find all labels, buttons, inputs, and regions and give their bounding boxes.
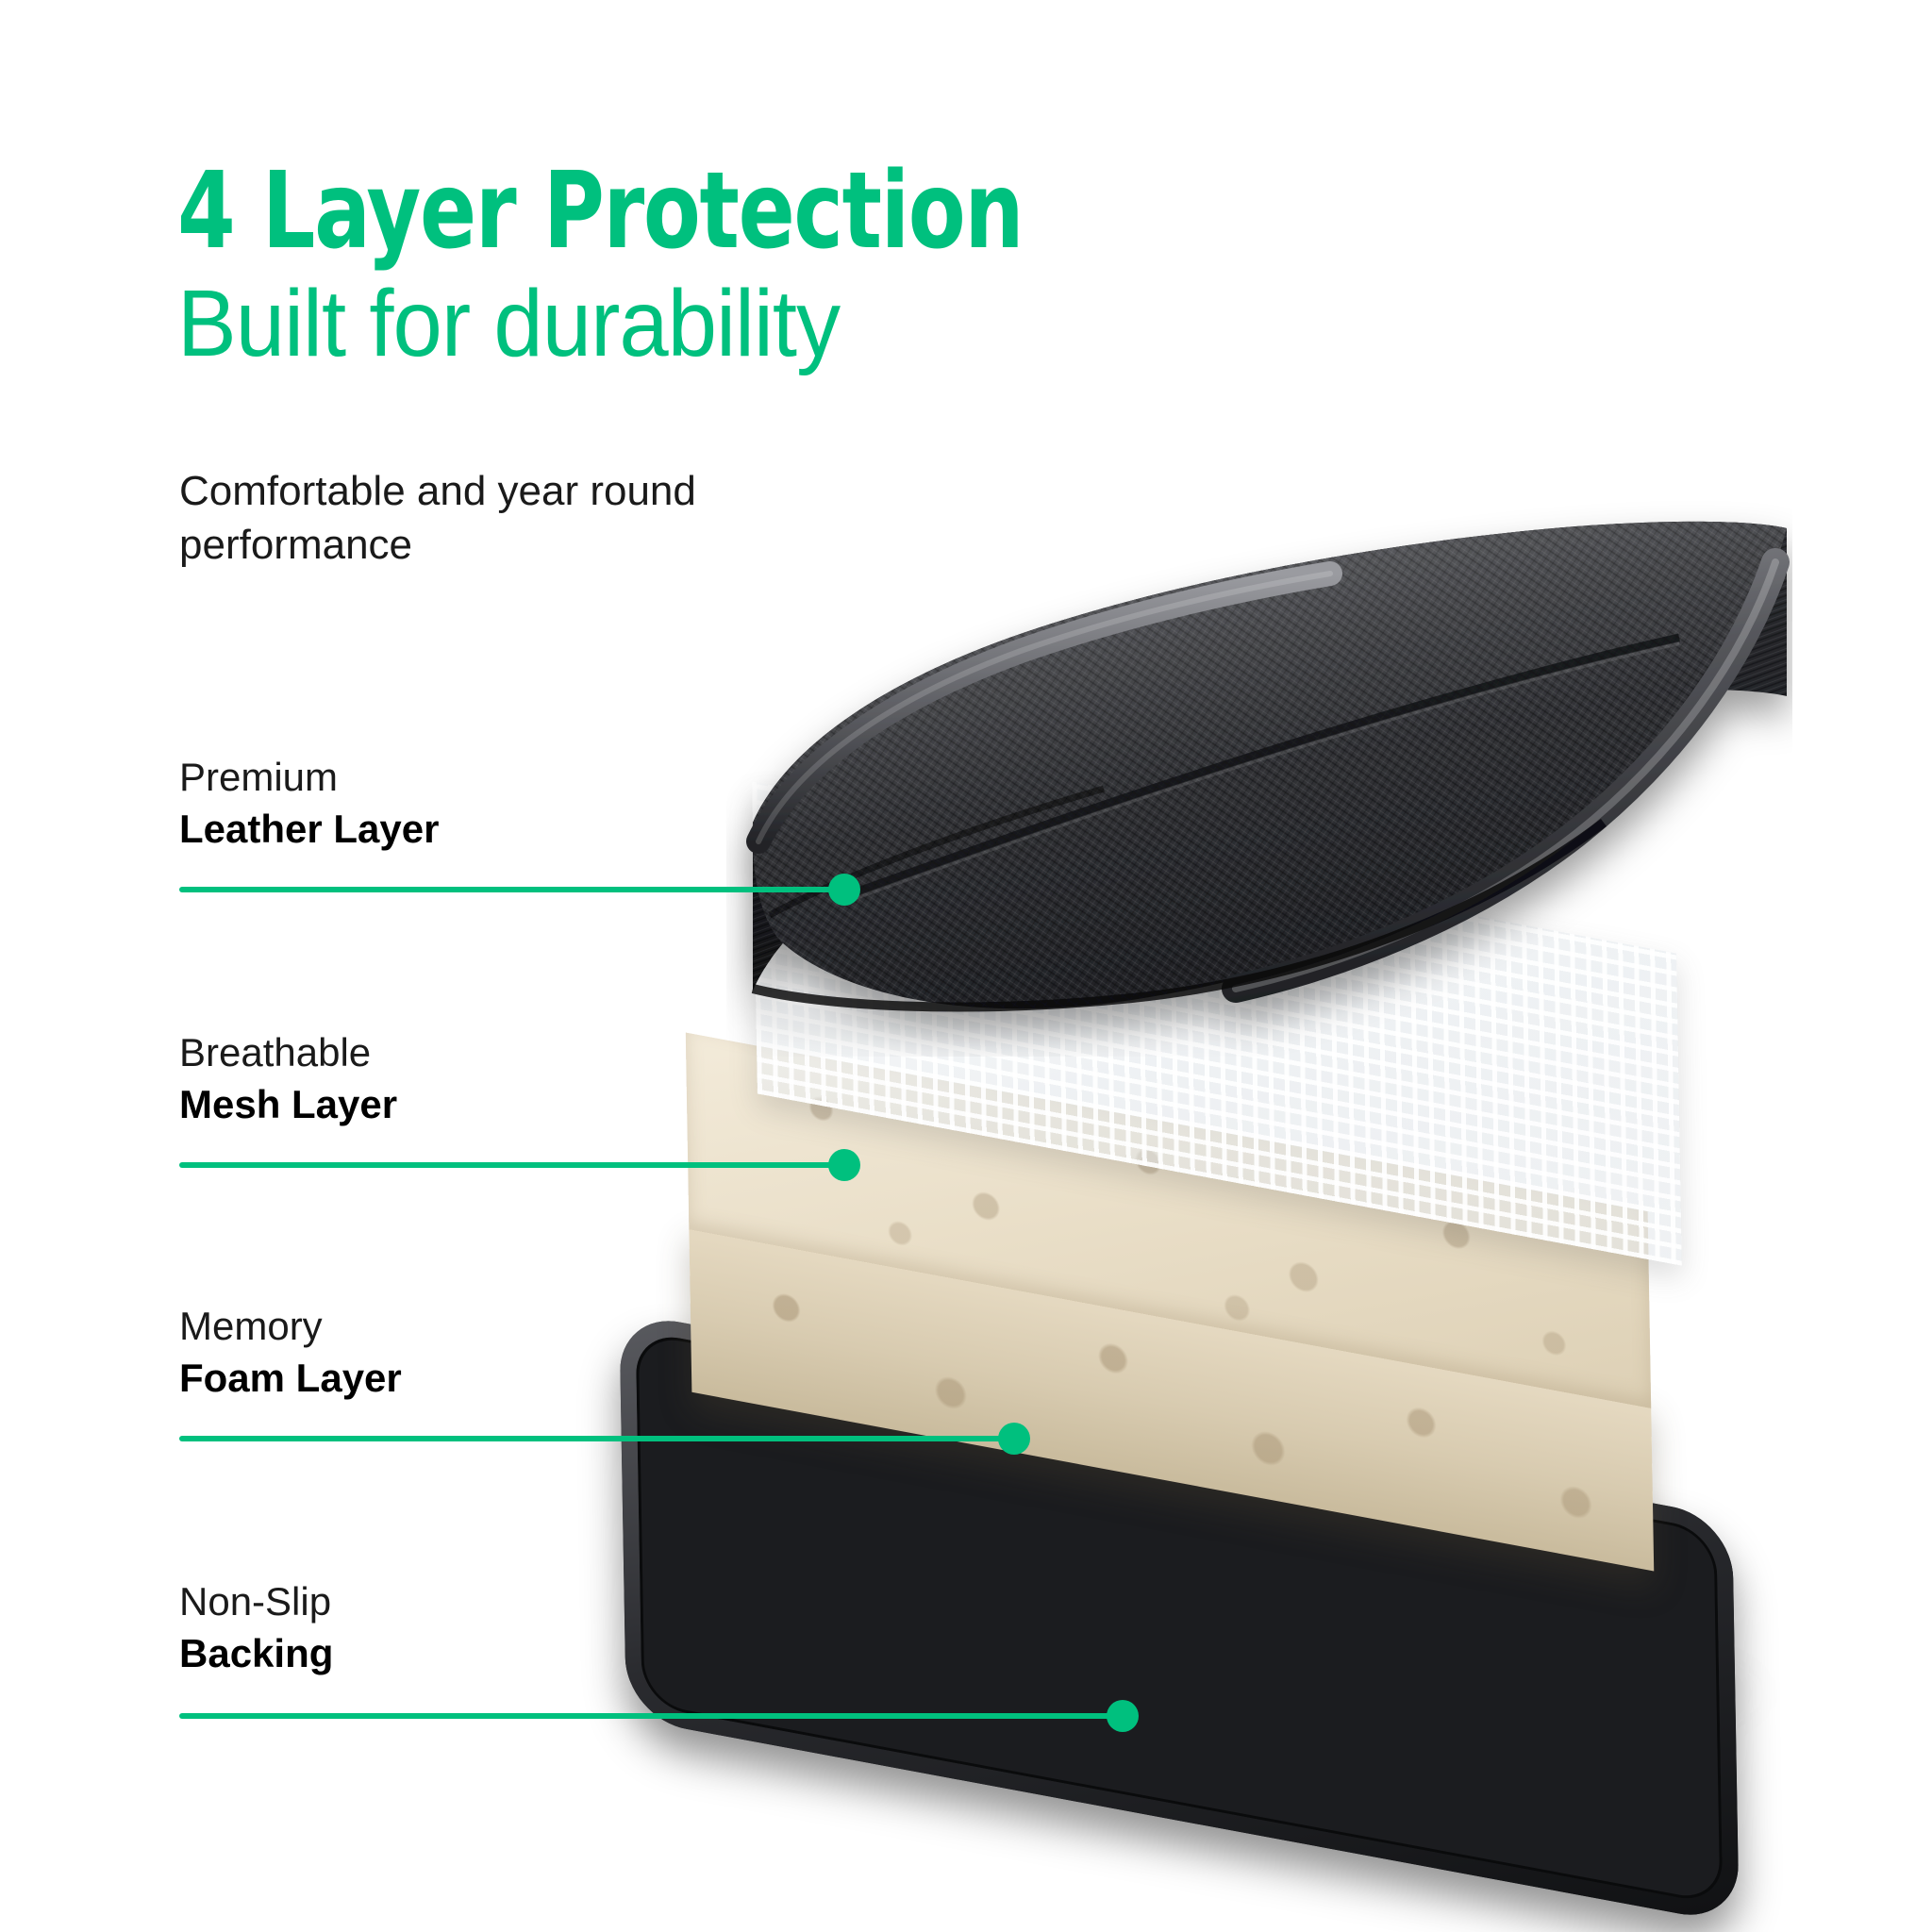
callout-leather-line2: Leather Layer: [179, 805, 783, 853]
leader-line-foam: [179, 1436, 1019, 1441]
page-title: 4 Layer Protection: [177, 158, 1174, 264]
callout-mesh: Breathable Mesh Layer: [179, 1028, 783, 1128]
callout-foam: Memory Foam Layer: [179, 1302, 783, 1402]
leader-dot-leather[interactable]: [828, 874, 860, 906]
leader-line-leather: [179, 887, 849, 892]
callout-leather: Premium Leather Layer: [179, 753, 783, 853]
leader-line-mesh: [179, 1162, 849, 1168]
leader-line-backing: [179, 1713, 1127, 1719]
infographic-canvas: 4 Layer Protection Built for durability …: [0, 0, 1932, 1932]
callout-mesh-line1: Breathable: [179, 1028, 783, 1076]
callout-foam-line2: Foam Layer: [179, 1354, 783, 1402]
leader-dot-backing[interactable]: [1107, 1700, 1139, 1732]
product-illustration: [623, 472, 1906, 1868]
callout-backing-line2: Backing: [179, 1629, 783, 1677]
page-subtitle: Built for durability: [177, 274, 1241, 374]
leader-dot-foam[interactable]: [998, 1423, 1030, 1455]
headline-block: 4 Layer Protection Built for durability: [177, 158, 1309, 374]
callout-backing-line1: Non-Slip: [179, 1577, 783, 1625]
leader-dot-mesh[interactable]: [828, 1149, 860, 1181]
callout-leather-line1: Premium: [179, 753, 783, 801]
leather-layer: [726, 472, 1792, 1057]
callout-mesh-line2: Mesh Layer: [179, 1080, 783, 1128]
callout-foam-line1: Memory: [179, 1302, 783, 1350]
callout-backing: Non-Slip Backing: [179, 1577, 783, 1677]
